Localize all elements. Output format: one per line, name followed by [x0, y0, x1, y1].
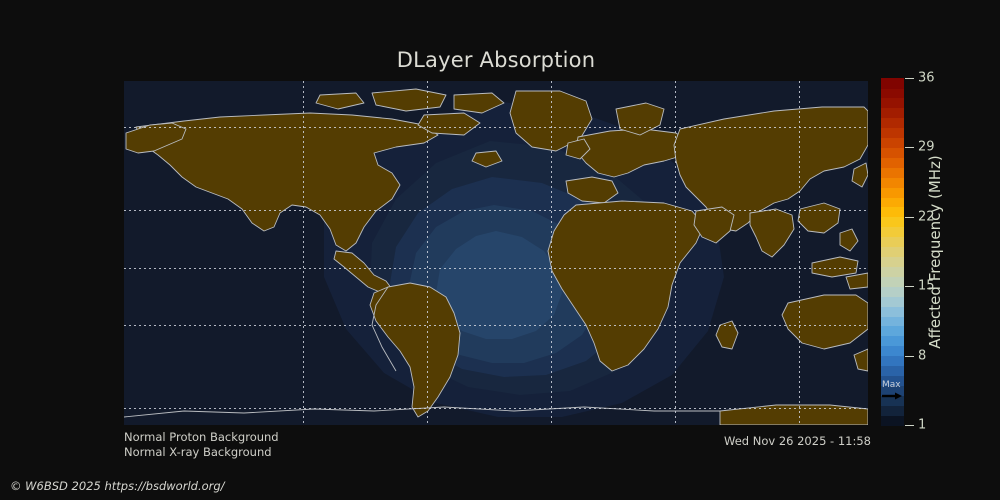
- gridline-lat-0: [124, 268, 868, 269]
- page-title-text: DLayer Absorption: [273, 48, 595, 72]
- colorbar-swatch: [881, 197, 904, 208]
- note-xray-background: Normal X-ray Background: [124, 445, 272, 459]
- colorbar-tick: [905, 217, 914, 218]
- gridline-lat-60s: [124, 408, 868, 409]
- colorbar-swatch: [881, 276, 904, 287]
- gridline-lon-120w: [303, 81, 304, 425]
- colorbar-swatch: [881, 137, 904, 148]
- colorbar-swatch: [881, 157, 904, 168]
- colorbar-title: Affected Frequency (MHz): [925, 78, 945, 425]
- colorbar-swatch: [881, 88, 904, 99]
- colorbar-swatch: [881, 207, 904, 218]
- gridline-lat-30n: [124, 210, 868, 211]
- colorbar-swatch: [881, 366, 904, 377]
- note-proton-background: Normal Proton Background: [124, 430, 279, 444]
- colorbar-swatch: [881, 296, 904, 307]
- colorbar-swatch: [881, 98, 904, 109]
- colorbar-max-marker: Max: [881, 381, 904, 403]
- colorbar-swatch: [881, 346, 904, 357]
- colorbar-swatch: [881, 177, 904, 188]
- colorbar-swatch: [881, 306, 904, 317]
- gridline-lon-0: [551, 81, 552, 425]
- colorbar-swatch: [881, 217, 904, 228]
- colorbar-swatch: [881, 78, 904, 89]
- gridline-lon-60e: [675, 81, 676, 425]
- colorbar-swatch: [881, 256, 904, 267]
- page-title: DLayer Absorption: [0, 48, 868, 72]
- gridline-lat-60n: [124, 127, 868, 128]
- colorbar-swatch: [881, 247, 904, 258]
- colorbar-max-label: Max: [882, 380, 901, 390]
- colorbar-swatch: [881, 187, 904, 198]
- colorbar-swatch: [881, 286, 904, 297]
- colorbar-swatch: [881, 128, 904, 139]
- gridline-lat-30s: [124, 325, 868, 326]
- copyright-notice: © W6BSD 2025 https://bsdworld.org/: [10, 479, 225, 493]
- colorbar-swatch: [881, 227, 904, 238]
- world-map-graphic: [124, 81, 868, 425]
- colorbar-swatch: [881, 356, 904, 367]
- world-map-axes: [124, 81, 868, 425]
- colorbar-tick: [905, 78, 914, 79]
- gridline-lon-120e: [799, 81, 800, 425]
- colorbar-swatch: [881, 237, 904, 248]
- colorbar-swatch: [881, 266, 904, 277]
- colorbar-swatch: [881, 415, 904, 426]
- colorbar-swatch: [881, 326, 904, 337]
- colorbar-swatch: [881, 316, 904, 327]
- timestamp: Wed Nov 26 2025 - 11:58: [724, 434, 871, 448]
- colorbar-tick: [905, 147, 914, 148]
- colorbar-swatch: [881, 167, 904, 178]
- colorbar-swatch: [881, 108, 904, 119]
- colorbar-tick: [905, 425, 914, 426]
- colorbar-swatch: [881, 405, 904, 416]
- colorbar-title-text: Affected Frequency (MHz): [926, 155, 944, 349]
- colorbar-swatch: [881, 336, 904, 347]
- colorbar-tick: [905, 286, 914, 287]
- colorbar: 3629221581: [881, 78, 904, 425]
- colorbar-gradient: [881, 78, 904, 425]
- colorbar-tick: [905, 356, 914, 357]
- colorbar-swatch: [881, 118, 904, 129]
- dlayer-absorption-figure: DLayer Absorption: [0, 0, 1000, 500]
- colorbar-swatch: [881, 147, 904, 158]
- gridline-lon-60w: [427, 81, 428, 425]
- arrow-right-icon: [882, 392, 903, 400]
